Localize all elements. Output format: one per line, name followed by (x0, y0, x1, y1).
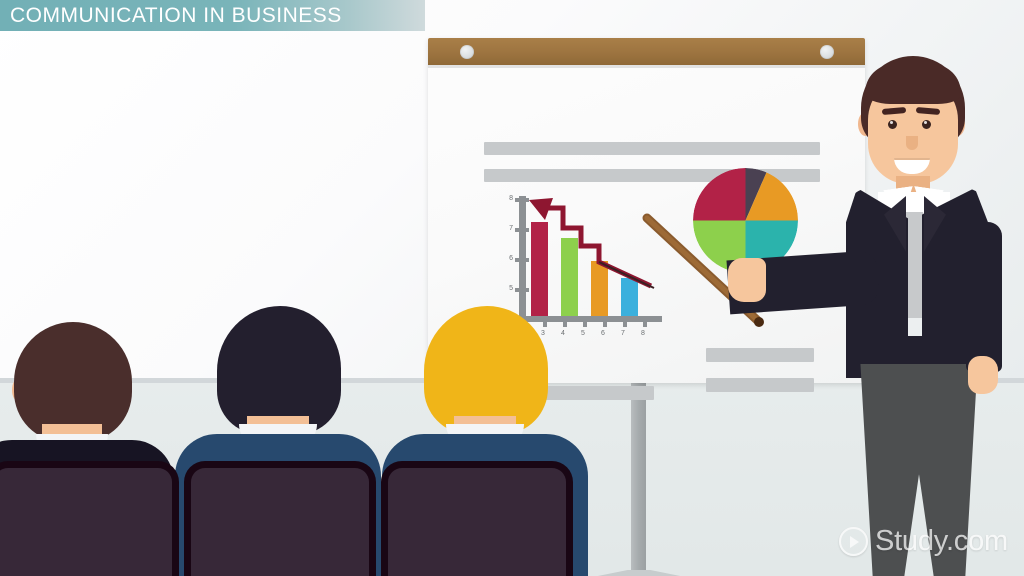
seat-3 (388, 468, 566, 576)
caption-bar-pie-1 (706, 348, 814, 362)
presenter-eye-right (922, 120, 931, 129)
headline-bar-1 (484, 142, 820, 155)
y-label-5: 5 (501, 285, 513, 292)
watermark-text: Study.com (875, 525, 1008, 558)
y-label-8: 8 (501, 195, 513, 202)
presenter-nose (906, 136, 918, 150)
board-clip-left-icon (460, 45, 474, 59)
page-title: COMMUNICATION IN BUSINESS (0, 4, 342, 28)
easel-pole (631, 376, 646, 576)
presenter-hand-pointing (728, 258, 766, 302)
seat-1 (0, 468, 172, 576)
auditorium-seats (0, 468, 614, 576)
title-banner: COMMUNICATION IN BUSINESS (0, 0, 425, 31)
caption-bar-pie-2 (706, 378, 814, 392)
presenter-eye-left (888, 120, 897, 129)
presenter-hair-fringe (865, 64, 961, 104)
y-label-6: 6 (501, 255, 513, 262)
presentation-scene: 8 7 6 5 2 3 4 5 (0, 0, 1024, 576)
presenter-man (838, 36, 1024, 576)
presenter-hand-resting (968, 356, 998, 394)
study-com-watermark: Study.com (839, 525, 1008, 558)
board-top-bar (428, 38, 865, 65)
x-label-7: 7 (617, 330, 629, 337)
play-circle-icon (839, 527, 868, 556)
audience-3-hair (424, 306, 548, 434)
seat-2 (191, 468, 369, 576)
board-clip-right-icon (820, 45, 834, 59)
presenter-arm-resting (966, 222, 1002, 372)
play-triangle-icon (850, 536, 859, 548)
audience-2-hair (217, 306, 341, 434)
y-label-7: 7 (501, 225, 513, 232)
